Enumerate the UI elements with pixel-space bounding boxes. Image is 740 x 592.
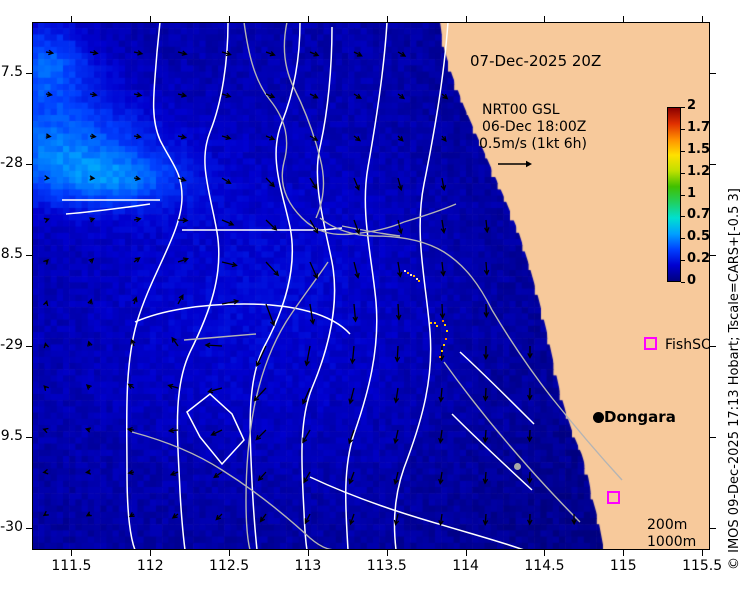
- velocity-arrow: [46, 134, 50, 138]
- track-point: [434, 322, 436, 324]
- velocity-arrow: [441, 220, 445, 233]
- colorbar-tick: [681, 216, 685, 217]
- velocity-arrow: [266, 178, 274, 186]
- y-tick: [26, 528, 32, 529]
- velocity-arrow: [441, 178, 445, 190]
- bathymetry-1000m-label: 1000m: [647, 534, 696, 550]
- velocity-arrow: [46, 92, 52, 96]
- velocity-arrow: [349, 472, 354, 483]
- velocity-arrow: [310, 262, 317, 278]
- velocity-arrow: [129, 470, 134, 474]
- x-tick: [308, 550, 309, 556]
- velocity-arrow: [128, 428, 134, 432]
- velocity-arrow: [484, 304, 488, 317]
- velocity-arrow: [483, 388, 487, 400]
- velocity-arrow: [261, 514, 266, 521]
- track-point: [407, 272, 409, 274]
- velocity-arrow: [43, 301, 47, 306]
- velocity-arrow: [43, 260, 48, 265]
- track-point: [443, 344, 445, 346]
- velocity-arrow: [134, 134, 141, 138]
- velocity-arrow: [46, 50, 53, 54]
- velocity-arrow: [86, 470, 90, 474]
- velocity-arrow: [266, 304, 275, 325]
- fishsoop-legend-swatch: [644, 337, 657, 350]
- y-tick: [26, 346, 32, 347]
- velocity-arrow: [254, 388, 266, 401]
- y-tick-right: [710, 73, 716, 74]
- velocity-arrow: [310, 178, 317, 188]
- velocity-arrow: [89, 259, 94, 264]
- velocity-arrow: [169, 428, 178, 432]
- sst-contour-line: [302, 27, 335, 550]
- colorbar-tick: [681, 282, 685, 283]
- velocity-arrow: [90, 134, 95, 138]
- model-time-label: 06-Dec 18:00Z: [482, 119, 586, 135]
- x-tick: [229, 550, 230, 556]
- bathymetry-contour-line: [374, 236, 492, 310]
- colorbar-tick-label: 1: [687, 186, 696, 201]
- y-tick: [26, 73, 32, 74]
- y-tick-right: [710, 528, 716, 529]
- velocity-arrow: [440, 304, 444, 318]
- track-point: [442, 320, 444, 322]
- velocity-arrow: [350, 514, 354, 524]
- velocity-arrow: [266, 220, 276, 230]
- velocity-arrow: [86, 428, 91, 432]
- velocity-arrow: [44, 470, 48, 474]
- velocity-arrow: [216, 514, 222, 520]
- velocity-arrow: [134, 258, 139, 262]
- velocity-arrow: [44, 386, 48, 391]
- instrument-track-markers: [404, 270, 448, 358]
- velocity-arrow: [222, 178, 230, 183]
- velocity-arrow: [353, 304, 357, 321]
- velocity-arrow: [222, 93, 230, 97]
- velocity-arrow: [442, 94, 447, 99]
- velocity-arrow: [528, 388, 532, 399]
- fishsoop-station-marker[interactable]: [607, 491, 620, 504]
- y-tick-label: -28: [0, 155, 23, 171]
- colorbar: [667, 107, 681, 282]
- sst-contour-line: [394, 22, 448, 550]
- velocity-arrow: [129, 384, 134, 388]
- colorbar-tick: [681, 260, 685, 261]
- x-tick: [71, 550, 72, 556]
- velocity-arrow: [90, 50, 97, 54]
- bathymetry-contour-line: [444, 362, 580, 522]
- velocity-arrow: [398, 262, 402, 276]
- colorbar-tick: [681, 195, 685, 196]
- velocity-arrow: [528, 514, 532, 524]
- velocity-arrow: [485, 220, 489, 232]
- track-point: [430, 322, 432, 324]
- velocity-arrow: [90, 176, 94, 180]
- y-tick-label: -29.5: [0, 428, 23, 444]
- x-tick-top: [466, 16, 467, 22]
- velocity-arrow: [528, 430, 532, 441]
- velocity-arrow: [266, 262, 278, 275]
- velocity-arrow: [44, 428, 49, 432]
- velocity-arrow: [172, 338, 178, 346]
- velocity-arrow: [88, 342, 92, 347]
- colorbar-tick: [681, 107, 685, 108]
- velocity-arrow: [396, 304, 400, 319]
- velocity-arrow: [178, 93, 186, 97]
- sst-contour-line: [135, 304, 350, 334]
- velocity-arrow: [87, 385, 92, 389]
- x-tick: [544, 550, 545, 556]
- velocity-arrow: [528, 472, 532, 483]
- velocity-arrow: [257, 346, 266, 366]
- velocity-arrow: [88, 300, 92, 305]
- velocity-arrow: [398, 52, 405, 56]
- velocity-arrow: [134, 51, 142, 55]
- track-point: [441, 350, 443, 352]
- x-tick: [150, 550, 151, 556]
- bathymetry-200m-label: 200m: [647, 517, 687, 533]
- velocity-arrow: [89, 218, 94, 222]
- track-point: [444, 324, 446, 326]
- velocity-arrow: [439, 388, 443, 401]
- velocity-arrow: [169, 384, 178, 388]
- velocity-arrow: [222, 220, 233, 225]
- x-tick-top: [229, 16, 230, 22]
- x-tick-top: [71, 16, 72, 22]
- x-tick-label: 115.5: [672, 558, 732, 574]
- velocity-arrow: [173, 513, 178, 517]
- sst-contour-line: [346, 22, 387, 550]
- figure-root: 07-Dec-2025 20Z NRT00 GSL 06-Dec 18:00Z …: [0, 0, 740, 592]
- velocity-arrow: [87, 512, 92, 516]
- track-point: [404, 270, 406, 272]
- velocity-arrow: [439, 472, 443, 484]
- velocity-arrow: [178, 135, 186, 139]
- velocity-arrow: [222, 135, 230, 139]
- colorbar-tick-label: 2: [687, 98, 696, 113]
- colorbar-tick-label: 0.25: [687, 251, 710, 266]
- colorbar-tick-label: 1.5: [687, 142, 710, 157]
- velocity-arrow: [398, 178, 402, 190]
- station-marker-grey[interactable]: [514, 463, 521, 470]
- reference-arrow-icon: [498, 159, 532, 169]
- velocity-arrow: [178, 51, 186, 55]
- y-tick-label: -27.5: [0, 64, 23, 80]
- x-tick: [623, 550, 624, 556]
- copyright-label: © IMOS 09-Dec-2025 17:13 Hobart; Tscale=…: [727, 188, 740, 570]
- velocity-arrow: [484, 346, 488, 359]
- model-name-label: NRT00 GSL: [482, 102, 560, 118]
- y-tick-label: -28.5: [0, 246, 23, 262]
- x-tick-top: [544, 16, 545, 22]
- x-tick: [387, 550, 388, 556]
- colorbar-tick: [681, 129, 685, 130]
- timestamp-label: 07-Dec-2025 20Z: [470, 52, 601, 70]
- velocity-arrow: [134, 92, 141, 96]
- x-tick-top: [702, 16, 703, 22]
- x-tick-label: 114.5: [514, 558, 574, 574]
- velocity-arrow: [256, 430, 266, 440]
- x-tick-label: 114: [436, 558, 496, 574]
- velocity-arrow: [442, 136, 446, 141]
- velocity-arrow: [395, 346, 399, 361]
- velocity-arrow: [90, 92, 96, 96]
- track-point: [445, 338, 447, 340]
- x-tick-label: 112.5: [199, 558, 259, 574]
- bathymetry-contour-line: [184, 334, 256, 340]
- x-tick-top: [150, 16, 151, 22]
- velocity-arrow: [310, 52, 318, 56]
- y-tick-label: -29: [0, 337, 23, 353]
- velocity-arrow: [303, 430, 310, 442]
- velocity-arrow: [354, 136, 360, 141]
- x-tick: [466, 550, 467, 556]
- x-tick-label: 113: [278, 558, 338, 574]
- map-overlay-vectors: [32, 22, 710, 550]
- x-tick-top: [308, 16, 309, 22]
- map-plot-area[interactable]: 07-Dec-2025 20Z NRT00 GSL 06-Dec 18:00Z …: [32, 22, 710, 550]
- velocity-arrow: [266, 136, 274, 140]
- velocity-arrow: [212, 430, 222, 435]
- velocity-arrow: [44, 176, 48, 180]
- velocity-arrow: [44, 343, 48, 348]
- velocity-arrow: [398, 220, 402, 233]
- sst-contour-line: [250, 22, 300, 550]
- velocity-scale-label: 0.5m/s (1kt 6h): [479, 136, 587, 152]
- velocity-arrow: [305, 346, 310, 365]
- colorbar-tick: [681, 238, 685, 239]
- velocity-arrow: [44, 511, 49, 515]
- velocity-arrow: [208, 388, 222, 393]
- velocity-arrow: [572, 514, 576, 524]
- y-tick: [26, 255, 32, 256]
- track-point: [446, 330, 448, 332]
- x-tick-top: [387, 16, 388, 22]
- y-tick: [26, 164, 32, 165]
- colorbar-tick-label: 0.75: [687, 207, 710, 222]
- velocity-arrow: [354, 178, 359, 190]
- y-tick-right: [710, 255, 716, 256]
- velocity-arrow: [266, 52, 274, 56]
- colorbar-tick-label: 0: [687, 273, 696, 288]
- velocity-arrow: [398, 136, 403, 141]
- colorbar-tick-label: 0.5: [687, 229, 710, 244]
- velocity-arrow: [178, 295, 183, 304]
- velocity-arrow: [351, 346, 355, 363]
- track-point: [439, 356, 441, 358]
- x-tick-top: [623, 16, 624, 22]
- velocity-arrow: [310, 304, 315, 324]
- colorbar-gradient: [668, 108, 680, 281]
- track-point: [436, 325, 438, 327]
- track-point: [413, 275, 415, 277]
- y-tick-right: [710, 346, 716, 347]
- dongara-marker-dot: [593, 412, 604, 423]
- sst-contour-line: [177, 22, 228, 550]
- velocity-arrow: [354, 262, 359, 278]
- velocity-arrow: [394, 388, 398, 402]
- y-tick: [26, 437, 32, 438]
- velocity-arrow: [44, 218, 49, 222]
- colorbar-tick-label: 1.25: [687, 164, 710, 179]
- sst-contour-line: [460, 352, 534, 424]
- dongara-label: Dongara: [604, 408, 676, 426]
- velocity-arrow: [354, 220, 360, 233]
- velocity-arrow: [310, 94, 318, 98]
- velocity-arrow: [349, 388, 354, 403]
- velocity-arrow: [178, 258, 188, 262]
- track-point: [410, 274, 412, 276]
- colorbar-tick: [681, 151, 685, 152]
- colorbar-title: Age (days) of filled SST (wrt latest): [708, 72, 710, 330]
- velocity-arrow: [394, 472, 398, 484]
- velocity-arrow: [133, 298, 137, 304]
- bathymetry-contour-line: [246, 262, 328, 550]
- velocity-arrow: [304, 472, 310, 482]
- bathymetry-contour-line: [492, 310, 622, 480]
- velocity-arrow: [439, 430, 443, 442]
- track-point: [418, 280, 420, 282]
- x-tick: [702, 550, 703, 556]
- velocity-arrow: [222, 262, 236, 267]
- velocity-arrow: [354, 52, 362, 56]
- y-tick-label: -30: [0, 519, 23, 535]
- velocity-arrow: [214, 472, 222, 477]
- bathymetry-contour-line: [404, 204, 456, 222]
- velocity-arrow: [484, 262, 488, 274]
- velocity-arrow: [394, 430, 398, 443]
- colorbar-tick: [681, 173, 685, 174]
- velocity-arrow: [354, 94, 361, 98]
- x-tick-label: 111.5: [41, 558, 101, 574]
- velocity-arrow: [528, 346, 532, 358]
- track-point: [416, 278, 418, 280]
- x-tick-label: 112: [120, 558, 180, 574]
- velocity-arrow: [259, 472, 266, 480]
- colorbar-tick-label: 1.75: [687, 120, 710, 135]
- velocity-arrow: [171, 471, 178, 475]
- y-tick-right: [710, 437, 716, 438]
- x-tick-label: 113.5: [357, 558, 417, 574]
- velocity-arrow: [483, 430, 487, 442]
- velocity-arrow: [483, 472, 487, 483]
- velocity-arrow: [134, 176, 140, 180]
- velocity-arrow: [130, 512, 135, 516]
- velocity-arrow: [441, 262, 445, 275]
- y-tick-right: [710, 164, 716, 165]
- sst-contour-line: [187, 394, 244, 464]
- sst-contour-line: [66, 204, 150, 214]
- velocity-arrow: [305, 514, 310, 523]
- velocity-arrow: [206, 343, 222, 347]
- fishsoop-legend-label: FishSOOP: [665, 337, 710, 353]
- x-tick-label: 115: [593, 558, 653, 574]
- velocity-arrow: [134, 217, 140, 221]
- sst-contour-line: [310, 477, 524, 550]
- velocity-arrow: [439, 514, 443, 525]
- velocity-arrow: [222, 300, 238, 304]
- velocity-arrow: [310, 220, 318, 233]
- velocity-arrow: [398, 94, 404, 98]
- velocity-arrow: [483, 514, 487, 524]
